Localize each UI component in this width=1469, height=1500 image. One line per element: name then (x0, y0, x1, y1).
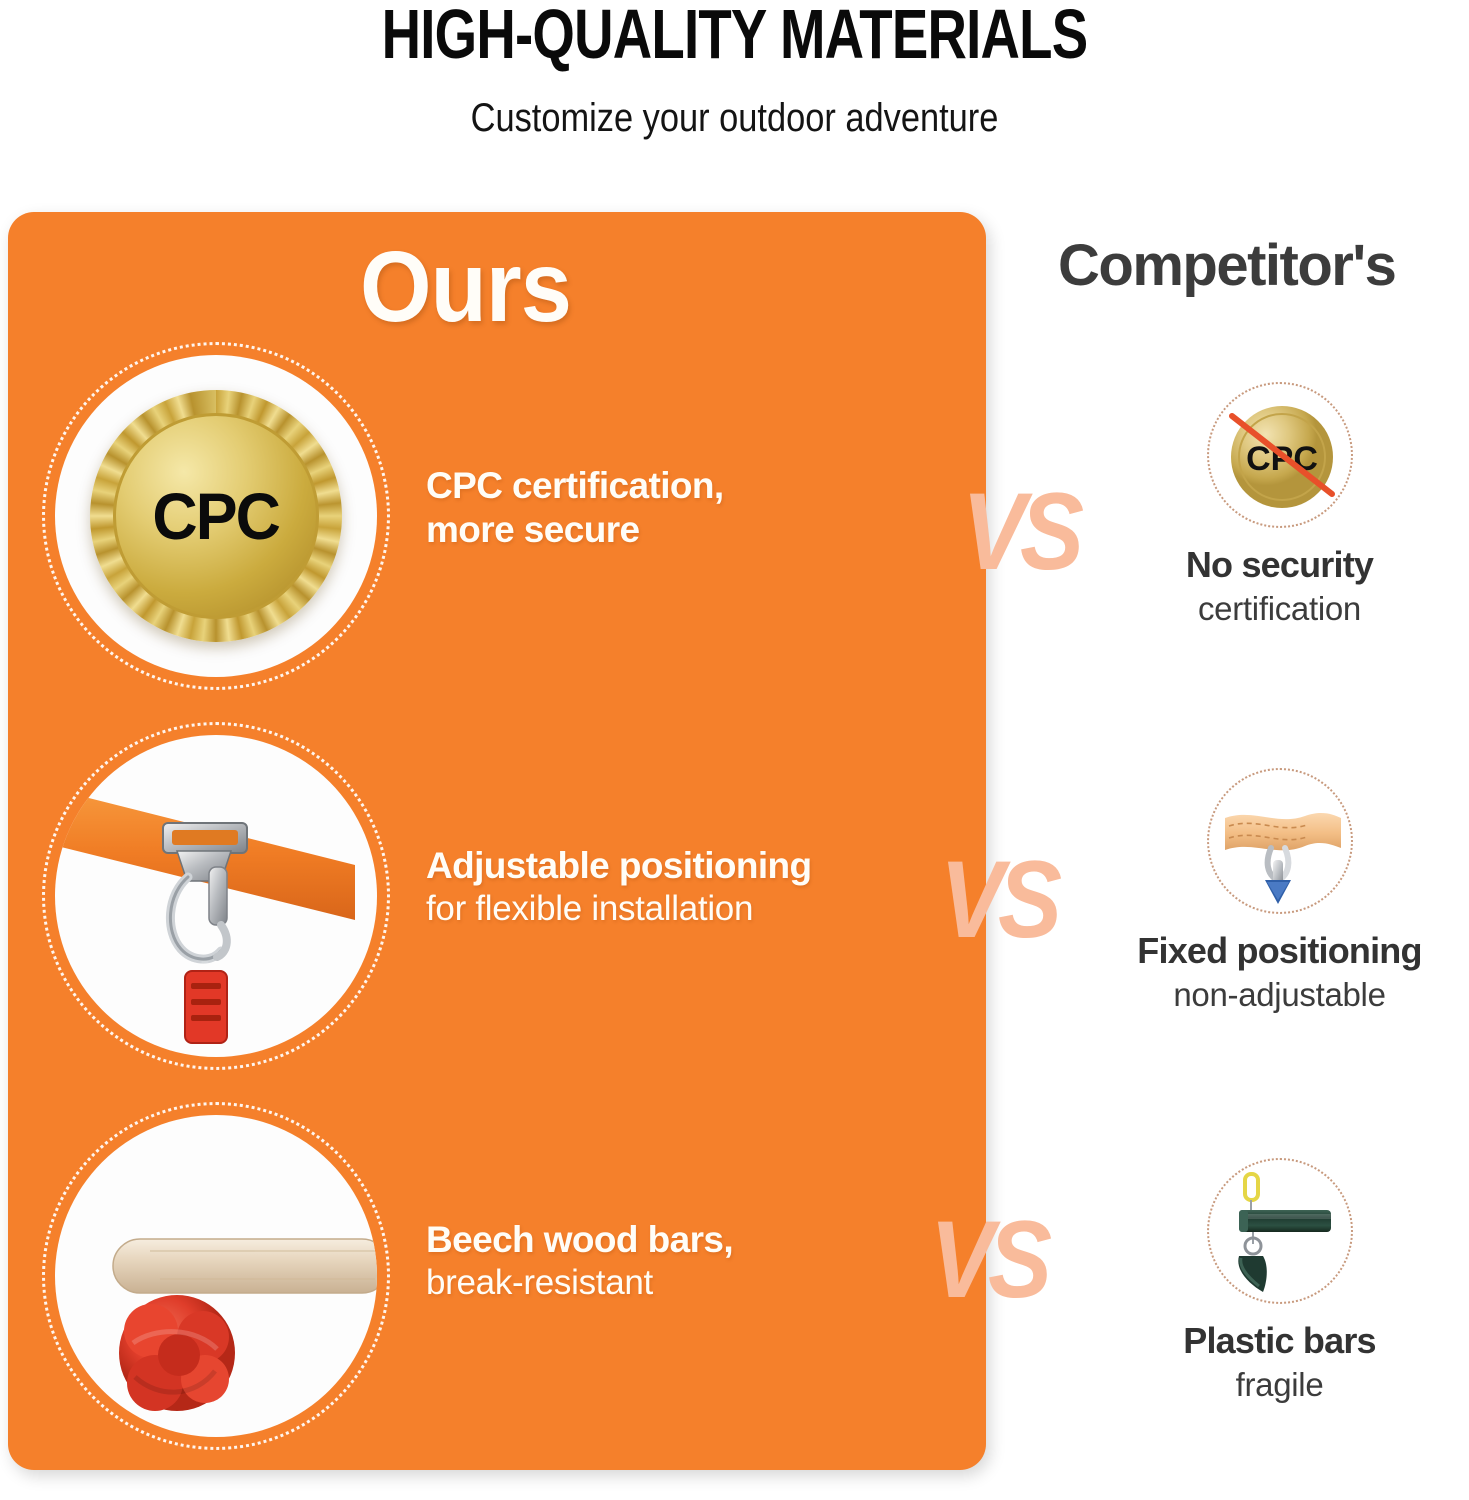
ours-feature-line2: more secure (426, 508, 724, 552)
gold-medal: CPC (90, 390, 342, 642)
beech-wood-bar-rope-icon (42, 1102, 390, 1450)
ours-row-cpc: CPC CPC certification, more secure (8, 342, 986, 712)
photo-circle: CPC (55, 355, 377, 677)
plastic-bar-illustration (1215, 1166, 1349, 1300)
page-subtitle: Customize your outdoor adventure (103, 96, 1366, 141)
ours-row-adjustable: Adjustable positioning for flexible inst… (8, 722, 986, 1092)
comparison-infographic: HIGH-QUALITY MATERIALS Customize your ou… (0, 0, 1469, 1500)
competitor-row-no-security: CPC No security certification (1090, 382, 1469, 628)
ours-feature-line1: CPC certification, (426, 464, 724, 508)
ours-column-title: Ours (360, 230, 571, 345)
ours-feature-line1: Beech wood bars, (426, 1218, 733, 1262)
competitor-line2: fragile (1090, 1366, 1469, 1404)
page-title: HIGH-QUALITY MATERIALS (162, 0, 1308, 74)
competitor-line2: non-adjustable (1090, 976, 1469, 1014)
cpc-gold-medal-icon: CPC (42, 342, 390, 690)
vs-badge-1: VS (962, 470, 1078, 595)
photo-circle (55, 1115, 377, 1437)
ours-feature-text-2: Adjustable positioning for flexible inst… (426, 844, 812, 930)
competitor-row-fixed: Fixed positioning non-adjustable (1090, 768, 1469, 1014)
competitor-line1: No security (1090, 544, 1469, 586)
ours-feature-text-3: Beech wood bars, break-resistant (426, 1218, 733, 1304)
ours-panel: Ours CPC CPC certification, more secure (8, 212, 986, 1470)
fixed-strap-clip-icon (1207, 768, 1353, 914)
wood-bar-rope-illustration (55, 1115, 377, 1437)
ours-feature-line2: break-resistant (426, 1262, 733, 1305)
competitor-column-title: Competitor's (1058, 232, 1395, 299)
competitor-line1: Plastic bars (1090, 1320, 1469, 1362)
competitor-line2: certification (1090, 590, 1469, 628)
cpc-crossed-out-icon: CPC (1207, 382, 1353, 528)
photo-circle (55, 735, 377, 1057)
strap-carabiner-illustration (55, 735, 377, 1057)
medal-label: CPC (153, 478, 280, 554)
competitor-line1: Fixed positioning (1090, 930, 1469, 972)
vs-badge-2: VS (940, 838, 1056, 963)
medal-face: CPC (113, 413, 320, 620)
competitor-row-plastic: Plastic bars fragile (1090, 1158, 1469, 1404)
crossed-cpc-coin: CPC (1215, 390, 1349, 524)
plastic-bar-icon (1207, 1158, 1353, 1304)
vs-badge-3: VS (930, 1198, 1046, 1323)
fixed-strap-clip-illustration (1215, 776, 1349, 910)
ours-feature-line1: Adjustable positioning (426, 844, 812, 888)
ours-row-beech: Beech wood bars, break-resistant (8, 1102, 986, 1470)
ours-feature-line2: for flexible installation (426, 888, 812, 931)
ours-feature-text-1: CPC certification, more secure (426, 464, 724, 551)
strap-carabiner-icon (42, 722, 390, 1070)
